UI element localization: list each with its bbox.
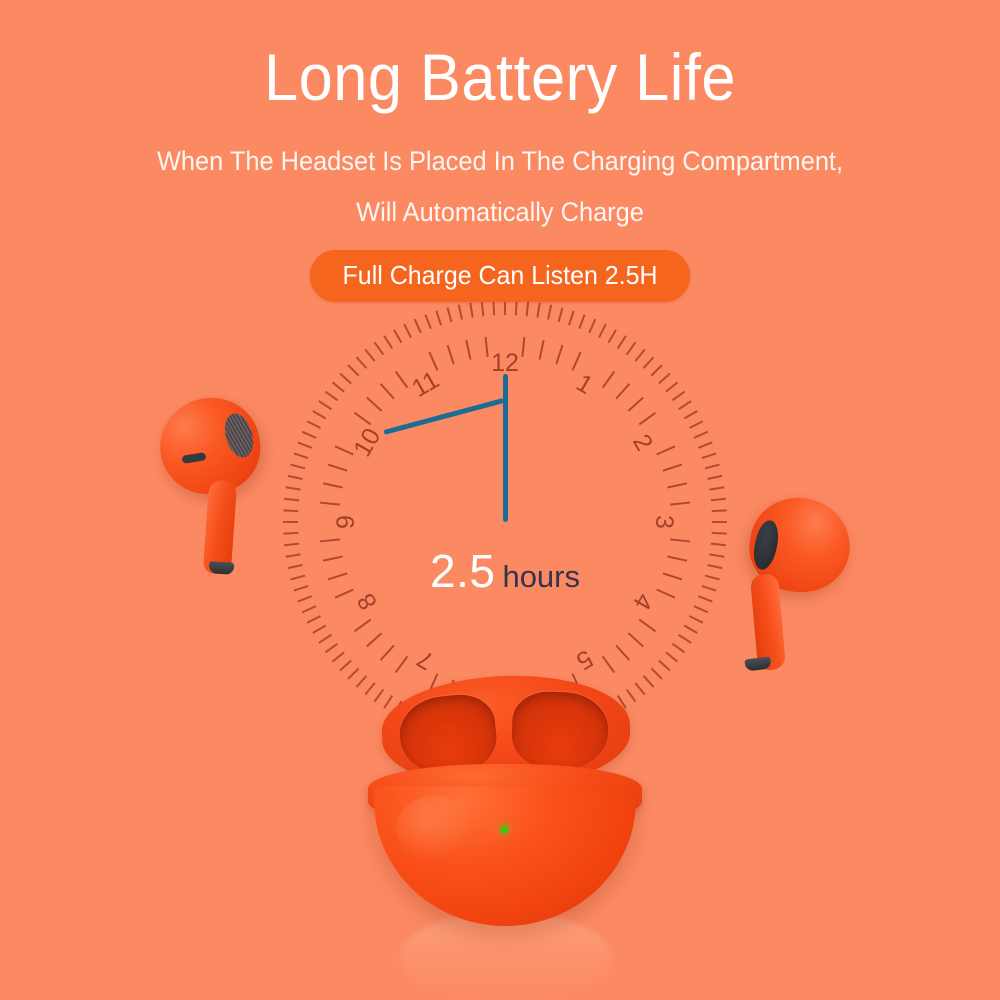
clock-center-label: 2.5hours xyxy=(335,544,675,598)
charging-case xyxy=(360,676,650,926)
subtitle-line-1: When The Headset Is Placed In The Chargi… xyxy=(30,114,970,187)
case-cavity-right xyxy=(511,690,610,771)
left-earbud-contact-tip xyxy=(209,561,235,575)
clock-minute-hand xyxy=(503,374,508,522)
product-marketing-banner: Long Battery Life When The Headset Is Pl… xyxy=(0,0,1000,1000)
case-body xyxy=(374,786,636,926)
battery-hours-unit: hours xyxy=(502,559,580,594)
left-earbud xyxy=(152,398,282,578)
battery-hours-value: 2.5 xyxy=(430,545,495,597)
status-badge: Full Charge Can Listen 2.5H xyxy=(310,250,690,302)
left-earbud-stem xyxy=(203,479,237,575)
badge-container: Full Charge Can Listen 2.5H xyxy=(0,250,1000,302)
page-title: Long Battery Life xyxy=(35,0,965,114)
right-earbud xyxy=(726,498,854,680)
headings-block: Long Battery Life When The Headset Is Pl… xyxy=(0,0,1000,302)
subtitle-line-2: Will Automatically Charge xyxy=(30,187,970,238)
charging-led-indicator xyxy=(501,826,508,833)
clock-hour-hand xyxy=(383,398,504,435)
